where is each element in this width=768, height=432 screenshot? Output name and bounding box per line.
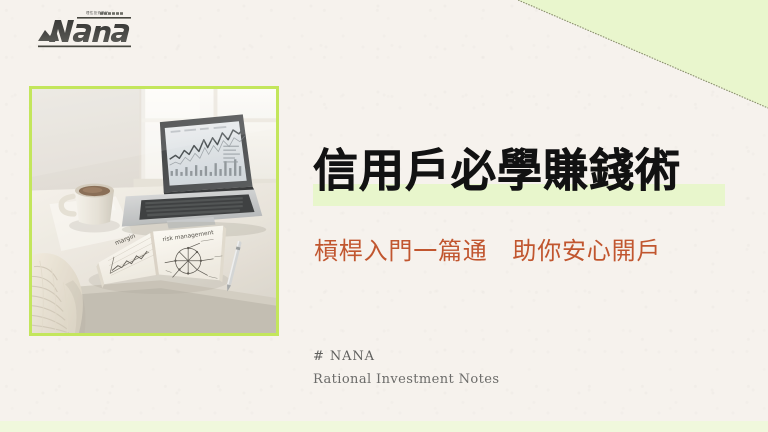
hero-photo-frame: margin risk management [29, 86, 279, 336]
slide-canvas: 理性投資筆記 [0, 0, 768, 432]
logo-tagline: 理性投資筆記 [86, 10, 109, 15]
headline-block: 信用戶必學賺錢術 [313, 142, 733, 206]
footer-subtitle: Rational Investment Notes [313, 368, 499, 392]
corner-accent-wedge [518, 0, 768, 108]
hero-photo: margin risk management [32, 89, 276, 333]
bottom-accent-strip [0, 421, 768, 432]
footer-hashtag: # NANA [313, 346, 499, 368]
nana-logo[interactable]: 理性投資筆記 [34, 8, 154, 56]
subtitle: 槓桿入門一篇通 助你安心開戶 [314, 236, 661, 266]
page-title: 信用戶必學賺錢術 [313, 142, 681, 200]
footer-block: # NANA Rational Investment Notes [313, 346, 499, 392]
